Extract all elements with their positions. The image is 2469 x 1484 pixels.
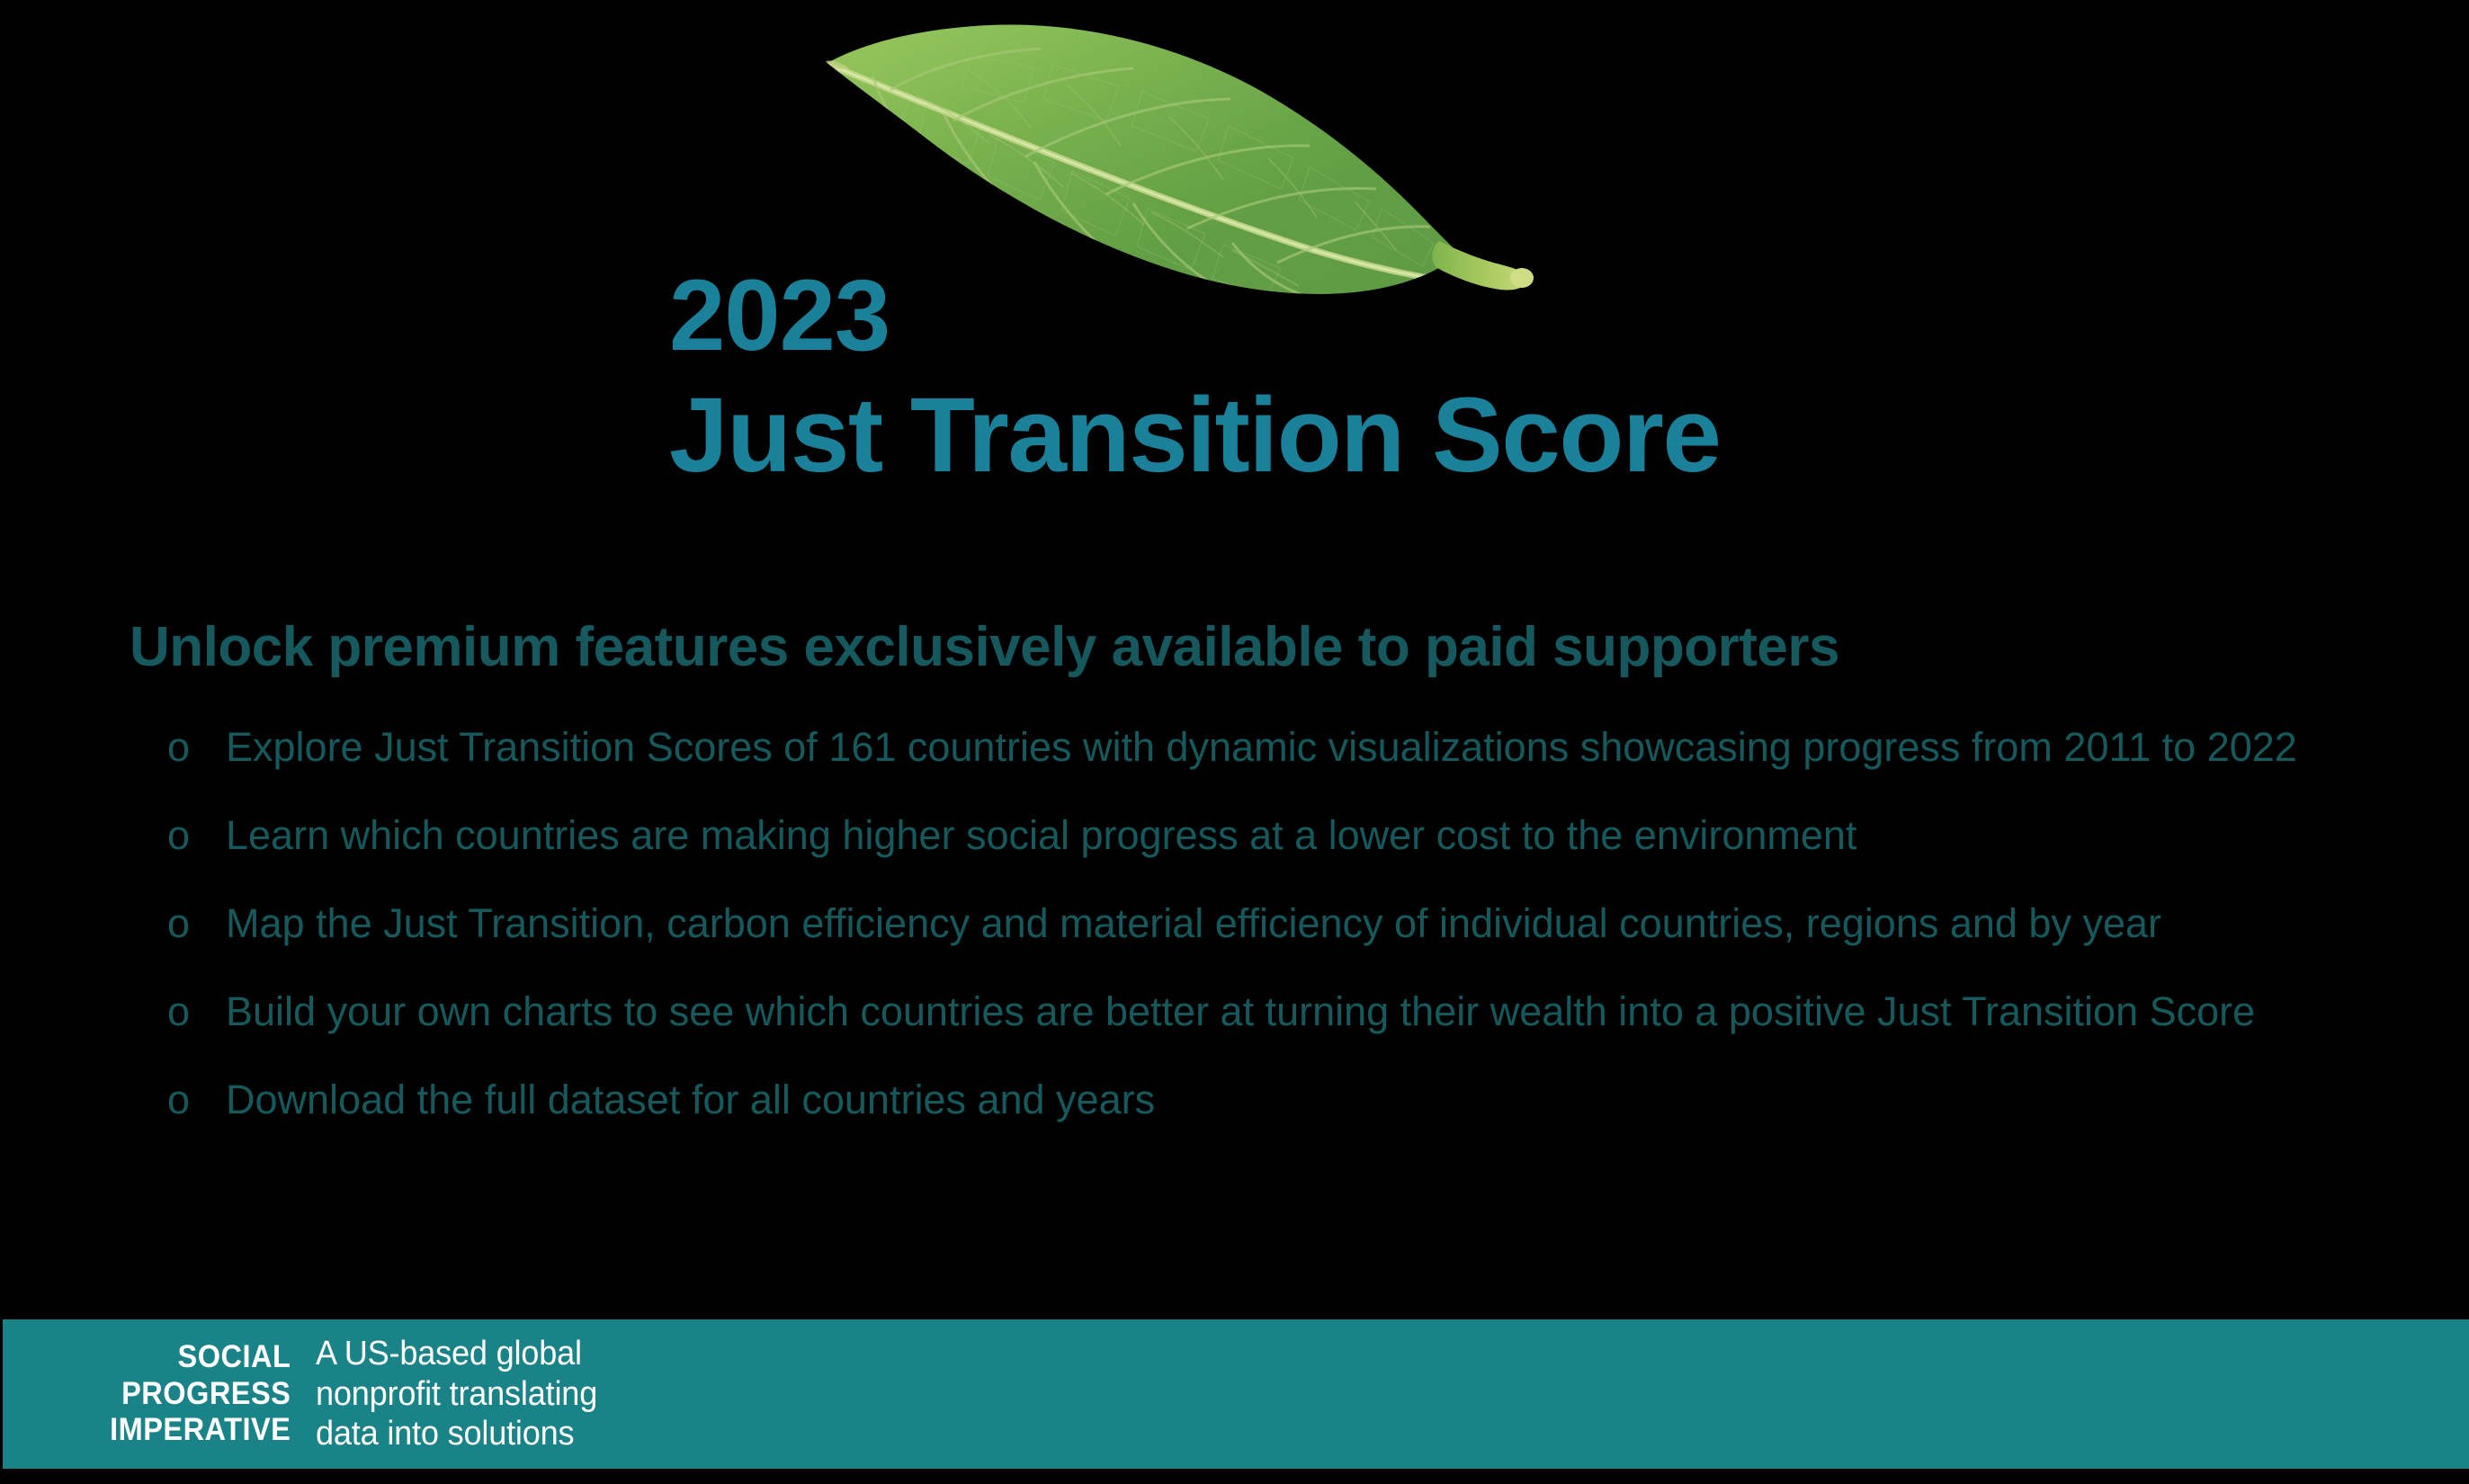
leaf-veins (829, 49, 1461, 297)
brand-line-progress: PROGRESS (110, 1376, 291, 1413)
leaf-shading (827, 24, 1459, 293)
feature-list: o Explore Just Transition Scores of 161 … (167, 720, 2353, 1128)
hero-year: 2023 (669, 265, 1721, 366)
list-item: o Map the Just Transition, carbon effici… (167, 896, 2353, 952)
list-item-label: Learn which countries are making higher … (226, 808, 2353, 863)
list-item-label: Build your own charts to see which count… (226, 984, 2353, 1040)
footer-content: SOCIAL PROGRESS IMPERATIVE A US-based gl… (96, 1334, 613, 1453)
tagline-line-2: nonprofit translating (316, 1374, 597, 1414)
hero-title-block: 2023 Just Transition Score (669, 265, 1721, 493)
list-item: o Download the full dataset for all coun… (167, 1072, 2353, 1128)
list-item: o Learn which countries are making highe… (167, 808, 2353, 863)
brand-logo: SOCIAL PROGRESS IMPERATIVE (110, 1339, 291, 1450)
leaf-blade (827, 24, 1459, 293)
bullet-circle-icon: o (167, 808, 194, 863)
brand-tagline: A US-based global nonprofit translating … (316, 1334, 597, 1453)
list-item-label: Explore Just Transition Scores of 161 co… (226, 720, 2353, 775)
tagline-line-1: A US-based global (316, 1334, 597, 1373)
brand-line-imperative: IMPERATIVE (110, 1412, 291, 1449)
tagline-line-3: data into solutions (316, 1414, 597, 1453)
bullet-circle-icon: o (167, 896, 194, 952)
slide-canvas: 2023 Just Transition Score Unlock premiu… (0, 0, 2469, 1484)
leaf-tip (826, 60, 849, 68)
bullet-circle-icon: o (167, 984, 194, 1040)
bullet-circle-icon: o (167, 720, 194, 775)
list-item: o Build your own charts to see which cou… (167, 984, 2353, 1040)
list-item: o Explore Just Transition Scores of 161 … (167, 720, 2353, 775)
bottom-black-strip (0, 1469, 2469, 1484)
list-item-label: Map the Just Transition, carbon efficien… (226, 896, 2353, 952)
hero-title: Just Transition Score (669, 379, 1721, 493)
list-item-label: Download the full dataset for all countr… (226, 1072, 2353, 1128)
brand-line-social: SOCIAL (110, 1339, 291, 1376)
section-headline: Unlock premium features exclusively avai… (130, 617, 1839, 678)
bullet-circle-icon: o (167, 1072, 194, 1128)
footer-bar: SOCIAL PROGRESS IMPERATIVE A US-based gl… (3, 1319, 2469, 1469)
